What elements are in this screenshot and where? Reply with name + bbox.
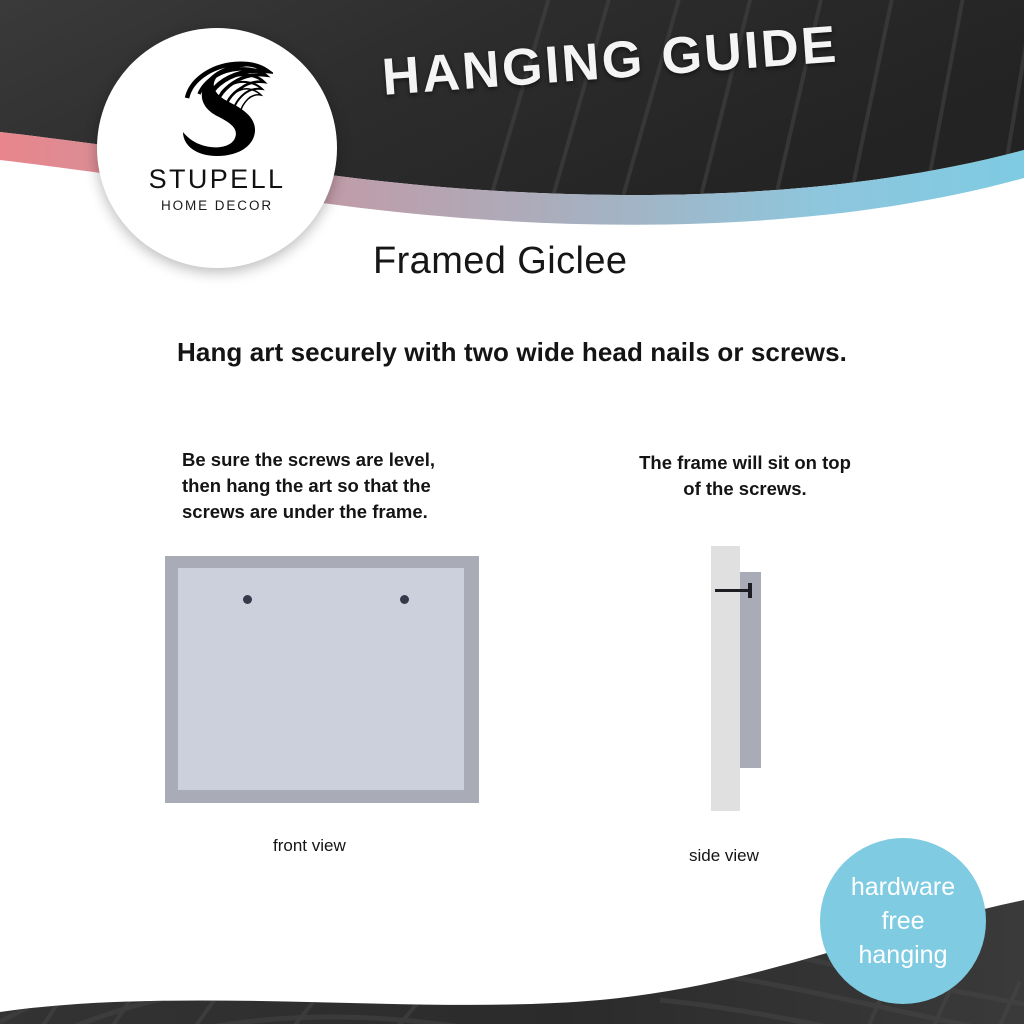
page-title: HANGING GUIDE [380, 15, 840, 108]
product-type-label: Framed Giclee [373, 240, 627, 283]
front-view-instruction-line-2: then hang the art so that the [182, 473, 482, 499]
brand-logo-badge: STUPELL HOME DECOR [97, 28, 337, 268]
hanging-guide-page: STUPELL HOME DECOR HANGING GUIDE Framed … [0, 0, 1024, 1024]
nail-head-icon [748, 583, 752, 598]
main-instruction-text: Hang art securely with two wide head nai… [0, 337, 1024, 368]
stupell-swoosh-logo-icon [161, 54, 273, 158]
front-view-instructions: Be sure the screws are level, then hang … [182, 447, 482, 525]
badge-line-2: free [881, 904, 924, 938]
front-view-diagram [165, 556, 479, 803]
side-view-wall [711, 546, 740, 811]
brand-tagline: HOME DECOR [161, 198, 273, 213]
nail-shaft-icon [715, 589, 751, 592]
side-view-instruction-line-1: The frame will sit on top [600, 450, 890, 476]
brand-name: STUPELL [149, 164, 286, 195]
front-view-art-panel [178, 568, 464, 790]
side-view-label: side view [689, 846, 759, 866]
hardware-free-hanging-badge: hardware free hanging [820, 838, 986, 1004]
side-view-instruction-line-2: of the screws. [600, 476, 890, 502]
badge-line-3: hanging [859, 938, 948, 972]
screw-dot-left [243, 595, 252, 604]
side-view-instructions: The frame will sit on top of the screws. [600, 450, 890, 502]
side-view-frame [740, 572, 761, 768]
front-view-instruction-line-3: screws are under the frame. [182, 499, 482, 525]
front-view-instruction-line-1: Be sure the screws are level, [182, 447, 482, 473]
badge-line-1: hardware [851, 870, 955, 904]
screw-dot-right [400, 595, 409, 604]
front-view-label: front view [273, 836, 346, 856]
